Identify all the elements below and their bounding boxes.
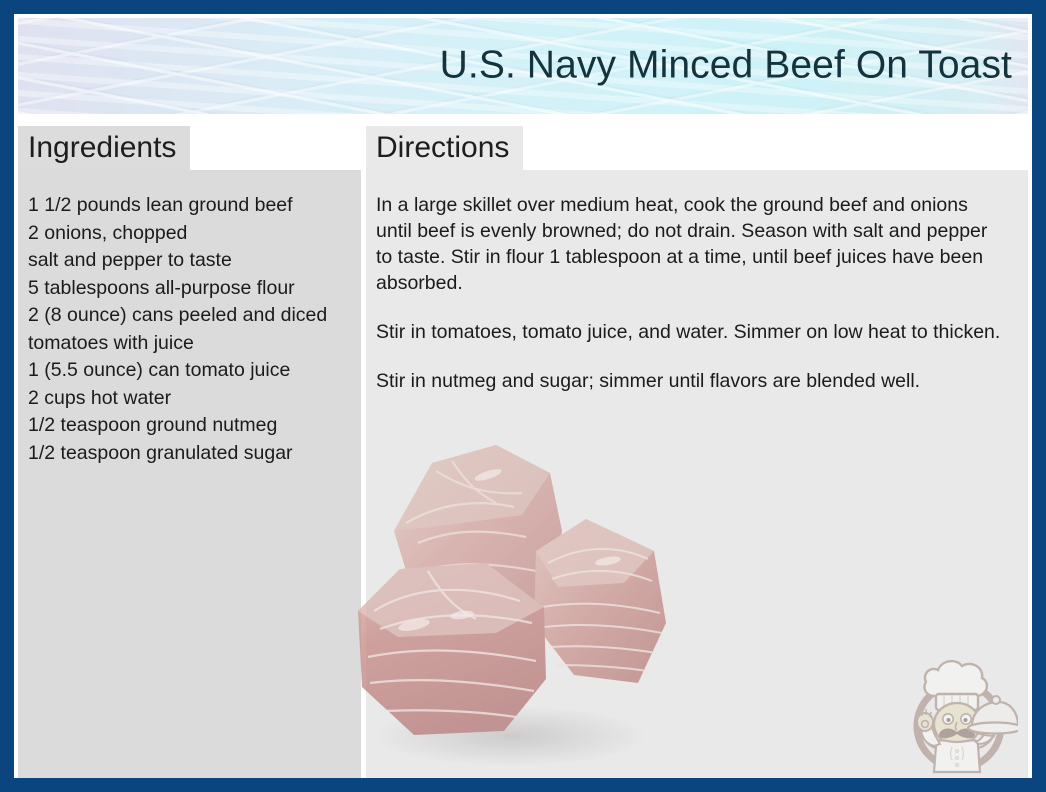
recipe-page: U.S. Navy Minced Beef On Toast Ingredien…	[14, 14, 1032, 778]
direction-paragraph: Stir in tomatoes, tomato juice, and wate…	[376, 319, 1004, 345]
list-item: 1 (5.5 ounce) can tomato juice	[28, 357, 347, 385]
list-item: 1 1/2 pounds lean ground beef	[28, 192, 347, 220]
ingredients-heading: Ingredients	[28, 133, 176, 163]
title-banner: U.S. Navy Minced Beef On Toast	[18, 18, 1028, 114]
recipe-slide: U.S. Navy Minced Beef On Toast Ingredien…	[0, 0, 1046, 792]
list-item: 2 cups hot water	[28, 385, 347, 413]
directions-panel: In a large skillet over medium heat, coo…	[366, 170, 1028, 778]
ingredients-column: Ingredients 1 1/2 pounds lean ground bee…	[18, 126, 361, 778]
directions-column: Directions In a large skillet over mediu…	[366, 126, 1028, 778]
list-item: 5 tablespoons all-purpose flour	[28, 275, 347, 303]
ingredients-list: 1 1/2 pounds lean ground beef 2 onions, …	[18, 170, 361, 467]
list-item: salt and pepper to taste	[28, 247, 347, 275]
ingredients-panel: 1 1/2 pounds lean ground beef 2 onions, …	[18, 170, 361, 778]
content-columns: Ingredients 1 1/2 pounds lean ground bee…	[18, 126, 1028, 778]
directions-heading: Directions	[376, 133, 509, 163]
page-title: U.S. Navy Minced Beef On Toast	[440, 46, 1012, 87]
list-item: 2 onions, chopped	[28, 220, 347, 248]
direction-paragraph: Stir in nutmeg and sugar; simmer until f…	[376, 368, 1004, 394]
directions-body: In a large skillet over medium heat, coo…	[366, 170, 1028, 394]
list-item: 2 (8 ounce) cans peeled and diced	[28, 302, 347, 330]
list-item: 1/2 teaspoon granulated sugar	[28, 440, 347, 468]
list-item: tomatoes with juice	[28, 330, 347, 358]
list-item: 1/2 teaspoon ground nutmeg	[28, 412, 347, 440]
direction-paragraph: In a large skillet over medium heat, coo…	[376, 192, 1004, 296]
directions-tab: Directions	[366, 126, 523, 170]
ingredients-tab: Ingredients	[18, 126, 190, 170]
